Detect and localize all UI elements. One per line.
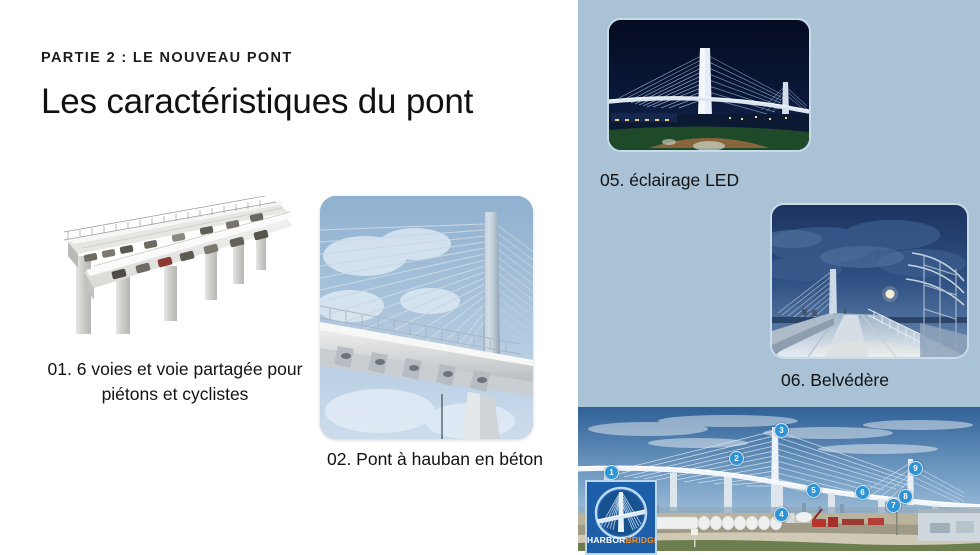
photo-belvedere-walkway bbox=[770, 203, 969, 359]
marker-3[interactable]: 3 bbox=[774, 423, 789, 438]
slide-header: PARTIE 2 : LE NOUVEAU PONT Les caractéri… bbox=[41, 50, 561, 121]
marker-5[interactable]: 5 bbox=[806, 483, 821, 498]
marker-9[interactable]: 9 bbox=[908, 461, 923, 476]
page-title: Les caractéristiques du pont bbox=[41, 82, 561, 121]
marker-4[interactable]: 4 bbox=[774, 507, 789, 522]
harbor-logo-word-bridge: BRIDGE bbox=[626, 535, 657, 545]
marker-6[interactable]: 6 bbox=[855, 485, 870, 500]
photo-cable-stayed-bridge bbox=[320, 196, 533, 439]
caption-item-06: 06. Belvédère bbox=[700, 368, 970, 393]
caption-item-02: 02. Pont à hauban en béton bbox=[300, 447, 570, 472]
marker-8[interactable]: 8 bbox=[898, 489, 913, 504]
harbor-logo-word-harbor: HARBOR bbox=[587, 535, 626, 545]
marker-1[interactable]: 1 bbox=[604, 465, 619, 480]
marker-2[interactable]: 2 bbox=[729, 451, 744, 466]
photo-bridge-deck-render bbox=[24, 196, 304, 344]
slide-root: PARTIE 2 : LE NOUVEAU PONT Les caractéri… bbox=[0, 0, 980, 551]
photo-led-night-bridge bbox=[607, 18, 811, 152]
caption-item-05: 05. éclairage LED bbox=[600, 168, 980, 193]
harbor-bridge-logo: HARBORBRIDGE bbox=[585, 480, 657, 555]
harbor-logo-caption: HARBORBRIDGE bbox=[587, 536, 655, 545]
section-eyebrow: PARTIE 2 : LE NOUVEAU PONT bbox=[41, 50, 561, 66]
caption-item-01: 01. 6 voies et voie partagée pour piéton… bbox=[30, 357, 320, 407]
